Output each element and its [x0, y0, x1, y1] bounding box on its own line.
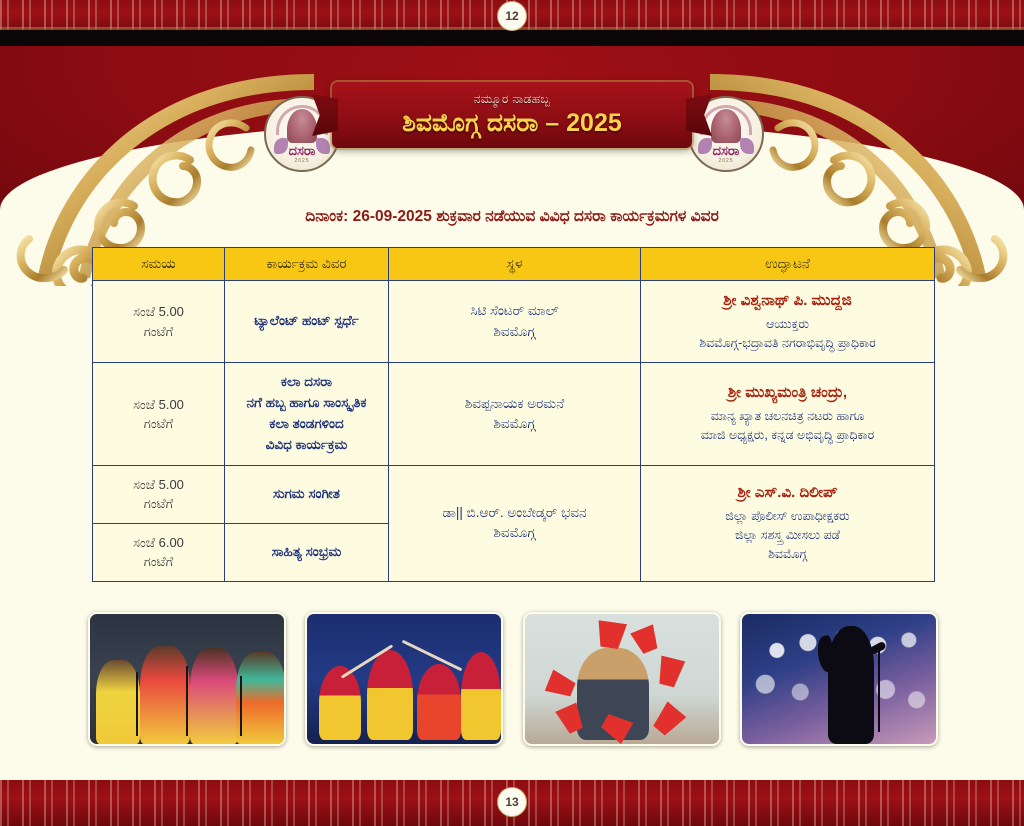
time-line-2: ಗಂಟೆಗೆ: [144, 496, 173, 511]
microphone-stand: [240, 676, 242, 736]
program-line-4: ವಿವಿಧ ಕಾರ್ಯಕ್ರಮ: [266, 437, 348, 452]
chief-guest-desc-1: ಆಯುಕ್ತರು: [766, 317, 809, 331]
performer-figure: [140, 646, 190, 744]
venue-line-2: ಶಿವಮೊಗ್ಗ: [494, 525, 536, 540]
title-main: ಶಿವಮೊಗ್ಗ ದಸರಾ – 2025: [402, 109, 622, 138]
performer-figure: [190, 648, 238, 744]
program-line-1: ಸಾಹಿತ್ಯ ಸಂಭ್ರಮ: [272, 544, 342, 559]
dancer-figure: [367, 650, 413, 740]
red-cup: [589, 619, 632, 650]
chief-guest-name: ಶ್ರೀ ಎಸ್.ವಿ. ದಿಲೀಪ್: [647, 482, 928, 505]
emblem-wing-right: [316, 138, 330, 154]
red-cup: [543, 665, 579, 704]
venue-line-1: ಸಿಟಿ ಸೆಂಟರ್ ಮಾಲ್: [470, 303, 558, 318]
title-subtitle: ನಮ್ಮೂರ ನಾಡಹಬ್ಬ: [474, 92, 551, 107]
chief-guest-desc-2: ಜಿಲ್ಲಾ ಸಶಸ್ತ್ರ ಮೀಸಲು ಪಡೆ: [735, 528, 840, 542]
microphone-stand: [878, 648, 880, 732]
cell-venue: ಶಿವಪ್ಪನಾಯಕ ಅರಮನೆ ಶಿವಮೊಗ್ಗ: [389, 363, 641, 466]
program-line-3: ಕಲಾ ತಂಡಗಳಿಂದ: [269, 416, 343, 431]
chief-guest-name: ಶ್ರೀ ಮುಖ್ಯಮಂತ್ರಿ ಚಂದ್ರು,: [647, 382, 928, 405]
time-line-2: ಗಂಟೆಗೆ: [144, 324, 173, 339]
photo-strip: [88, 612, 938, 748]
cell-time: ಸಂಜೆ 5.00 ಗಂಟೆಗೆ: [93, 465, 225, 523]
performer-figure: [236, 652, 286, 744]
photo-child-with-red-cups: [523, 612, 721, 746]
cell-program: ಟ್ಯಾಲೆಂಟ್ ಹಂಟ್ ಸ್ಪರ್ಧೆ: [225, 281, 389, 363]
singer-silhouette: [828, 626, 874, 744]
microphone-stand: [136, 672, 138, 736]
cell-time: ಸಂಜೆ 6.00 ಗಂಟೆಗೆ: [93, 523, 225, 581]
program-line-1: ಸುಗಮ ಸಂಗೀತ: [273, 486, 340, 501]
cell-program: ಸಾಹಿತ್ಯ ಸಂಭ್ರಮ: [225, 523, 389, 581]
column-header-time: ಸಮಯ: [93, 248, 225, 281]
emblem-wing-left: [698, 138, 712, 154]
chief-guest-desc-3: ಶಿವಮೊಗ್ಗ: [768, 547, 807, 561]
red-cup: [650, 654, 690, 689]
page-number-top: 12: [497, 1, 527, 31]
dancer-figure: [319, 666, 361, 740]
dancer-figure: [417, 664, 461, 740]
emblem-label: ದಸರಾ: [289, 144, 316, 157]
schedule-table: ಸಮಯ ಕಾರ್ಯಕ್ರಮ ವಿವರ ಸ್ಥಳ ಉದ್ಘಾಟನೆ ಸಂಜೆ 5.…: [92, 247, 935, 582]
cell-time: ಸಂಜೆ 5.00 ಗಂಟೆಗೆ: [93, 363, 225, 466]
emblem-year: 2025: [718, 158, 733, 164]
date-heading: ದಿನಾಂಕ: 26-09-2025 ಶುಕ್ರವಾರ ನಡೆಯುವ ವಿವಿಧ…: [0, 208, 1024, 226]
event-schedule-page: 12 ದಸರಾ: [0, 0, 1024, 826]
venue-line-2: ಶಿವಮೊಗ್ಗ: [494, 324, 536, 339]
page-number-bottom: 13: [497, 787, 527, 817]
chief-guest-desc-1: ಜಿಲ್ಲಾ ಪೊಲೀಸ್ ಉಪಾಧೀಕ್ಷಕರು: [725, 509, 849, 523]
table-row: ಸಂಜೆ 5.00 ಗಂಟೆಗೆ ಟ್ಯಾಲೆಂಟ್ ಹಂಟ್ ಸ್ಪರ್ಧೆ …: [93, 281, 935, 363]
table-row: ಸಂಜೆ 5.00 ಗಂಟೆಗೆ ಕಲಾ ದಸರಾ ನಗೆ ಹಬ್ಬ ಹಾಗೂ …: [93, 363, 935, 466]
venue-line-1: ಡಾ|| ಬಿ.ಆರ್. ಅಂಬೇಡ್ಕರ್ ಭವನ: [443, 505, 587, 520]
column-header-program: ಕಾರ್ಯಕ್ರಮ ವಿವರ: [225, 248, 389, 281]
cell-time: ಸಂಜೆ 5.00 ಗಂಟೆಗೆ: [93, 281, 225, 363]
cell-venue: ಸಿಟಿ ಸೆಂಟರ್ ಮಾಲ್ ಶಿವಮೊಗ್ಗ: [389, 281, 641, 363]
time-line-2: ಗಂಟೆಗೆ: [144, 416, 173, 431]
time-line-1: ಸಂಜೆ 5.00: [133, 304, 184, 319]
program-line-2: ನಗೆ ಹಬ್ಬ ಹಾಗೂ ಸಾಂಸ್ಕೃತಿಕ: [247, 395, 367, 410]
cell-program: ಸುಗಮ ಸಂಗೀತ: [225, 465, 389, 523]
microphone-stand: [186, 666, 188, 736]
table-row: ಸಂಜೆ 5.00 ಗಂಟೆಗೆ ಸುಗಮ ಸಂಗೀತ ಡಾ|| ಬಿ.ಆರ್.…: [93, 465, 935, 523]
title-ribbon: ನಮ್ಮೂರ ನಾಡಹಬ್ಬ ಶಿವಮೊಗ್ಗ ದಸರಾ – 2025: [332, 82, 692, 148]
emblem-wing-left: [274, 138, 288, 154]
cell-venue: ಡಾ|| ಬಿ.ಆರ್. ಅಂಬೇಡ್ಕರ್ ಭವನ ಶಿವಮೊಗ್ಗ: [389, 465, 641, 581]
emblem-year: 2025: [294, 158, 309, 164]
time-line-1: ಸಂಜೆ 5.00: [133, 477, 184, 492]
emblem-wing-right: [740, 138, 754, 154]
red-cup: [646, 698, 690, 741]
time-line-1: ಸಂಜೆ 6.00: [133, 535, 184, 550]
time-line-1: ಸಂಜೆ 5.00: [133, 397, 184, 412]
photo-classical-dancers: [305, 612, 503, 746]
schedule-table-container: ಸಮಯ ಕಾರ್ಯಕ್ರಮ ವಿವರ ಸ್ಥಳ ಉದ್ಘಾಟನೆ ಸಂಜೆ 5.…: [92, 247, 934, 582]
performer-figure: [96, 660, 140, 744]
program-line-1: ಕಲಾ ದಸರಾ: [281, 374, 332, 389]
program-line-1: ಟ್ಯಾಲೆಂಟ್ ಹಂಟ್ ಸ್ಪರ್ಧೆ: [254, 313, 358, 328]
photo-singers-on-stage: [88, 612, 286, 746]
chief-guest-desc-2: ಮಾಜಿ ಅಧ್ಯಕ್ಷರು, ಕನ್ನಡ ಅಭಿವೃದ್ಧಿ ಪ್ರಾಧಿಕಾ…: [701, 428, 874, 442]
column-header-venue: ಸ್ಥಳ: [389, 248, 641, 281]
emblem-label: ದಸರಾ: [713, 144, 740, 157]
cell-program: ಕಲಾ ದಸರಾ ನಗೆ ಹಬ್ಬ ಹಾಗೂ ಸಾಂಸ್ಕೃತಿಕ ಕಲಾ ತಂ…: [225, 363, 389, 466]
venue-line-2: ಶಿವಮೊಗ್ಗ: [494, 416, 536, 431]
chief-guest-name: ಶ್ರೀ ವಿಶ್ವನಾಥ್ ಪಿ. ಮುದ್ದಜಿ: [647, 290, 928, 313]
time-line-2: ಗಂಟೆಗೆ: [144, 554, 173, 569]
cell-inauguration: ಶ್ರೀ ಎಸ್.ವಿ. ದಿಲೀಪ್ ಜಿಲ್ಲಾ ಪೊಲೀಸ್ ಉಪಾಧೀಕ…: [641, 465, 935, 581]
chief-guest-desc-1: ಮಾನ್ಯ ಖ್ಯಾತ ಚಲನಚಿತ್ರ ನಟರು ಹಾಗೂ: [711, 409, 864, 423]
cell-inauguration: ಶ್ರೀ ವಿಶ್ವನಾಥ್ ಪಿ. ಮುದ್ದಜಿ ಆಯುಕ್ತರು ಶಿವಮ…: [641, 281, 935, 363]
venue-line-1: ಶಿವಪ್ಪನಾಯಕ ಅರಮನೆ: [465, 396, 564, 411]
dancer-figure: [461, 652, 501, 740]
cell-inauguration: ಶ್ರೀ ಮುಖ್ಯಮಂತ್ರಿ ಚಂದ್ರು, ಮಾನ್ಯ ಖ್ಯಾತ ಚಲನ…: [641, 363, 935, 466]
column-header-inauguration: ಉದ್ಘಾಟನೆ: [641, 248, 935, 281]
photo-singer-silhouette: [740, 612, 938, 746]
table-header-row: ಸಮಯ ಕಾರ್ಯಕ್ರಮ ವಿವರ ಸ್ಥಳ ಉದ್ಘಾಟನೆ: [93, 248, 935, 281]
chief-guest-desc-2: ಶಿವಮೊಗ್ಗ-ಭದ್ರಾವತಿ ನಗರಾಭಿವೃದ್ಧಿ ಪ್ರಾಧಿಕಾರ: [699, 336, 875, 350]
